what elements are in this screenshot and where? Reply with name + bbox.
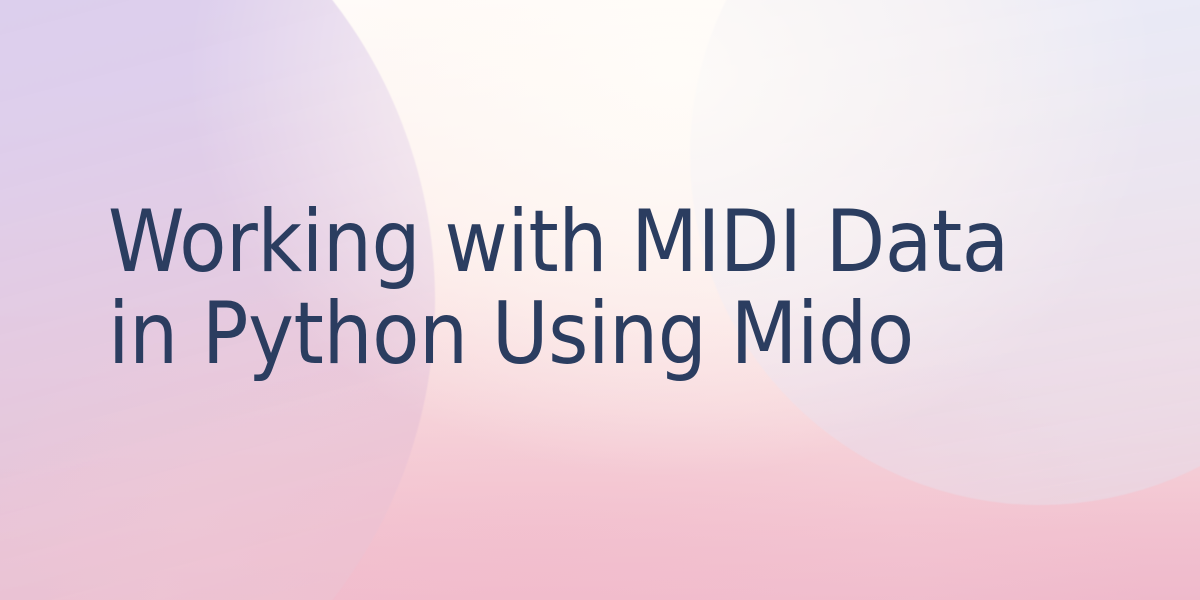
page-title: Working with MIDI Data in Python Using M… [108,196,1008,380]
page-title-line-2: in Python Using Mido [108,288,1008,380]
title-banner: Working with MIDI Data in Python Using M… [0,0,1200,600]
page-title-line-1: Working with MIDI Data [108,196,1008,288]
